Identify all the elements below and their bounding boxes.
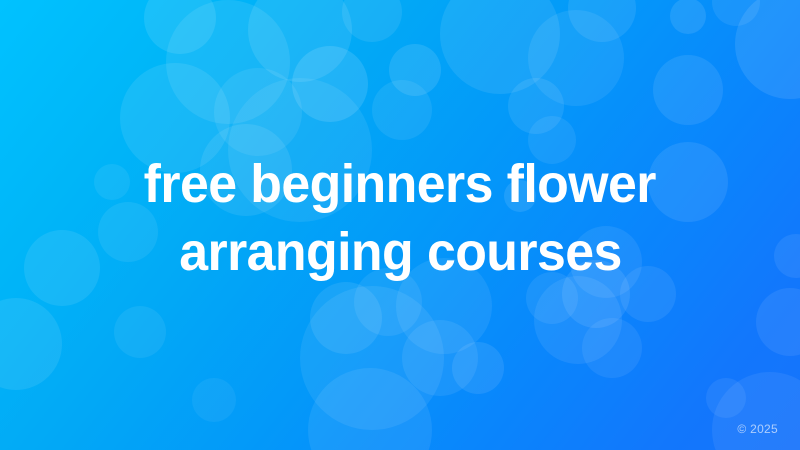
headline-line-1: free beginners flower: [144, 150, 656, 218]
headline-line-2: arranging courses: [179, 218, 622, 286]
promo-banner: free beginners flower arranging courses …: [0, 0, 800, 450]
copyright-notice: © 2025: [737, 422, 778, 436]
headline-block: free beginners flower arranging courses: [0, 0, 800, 450]
